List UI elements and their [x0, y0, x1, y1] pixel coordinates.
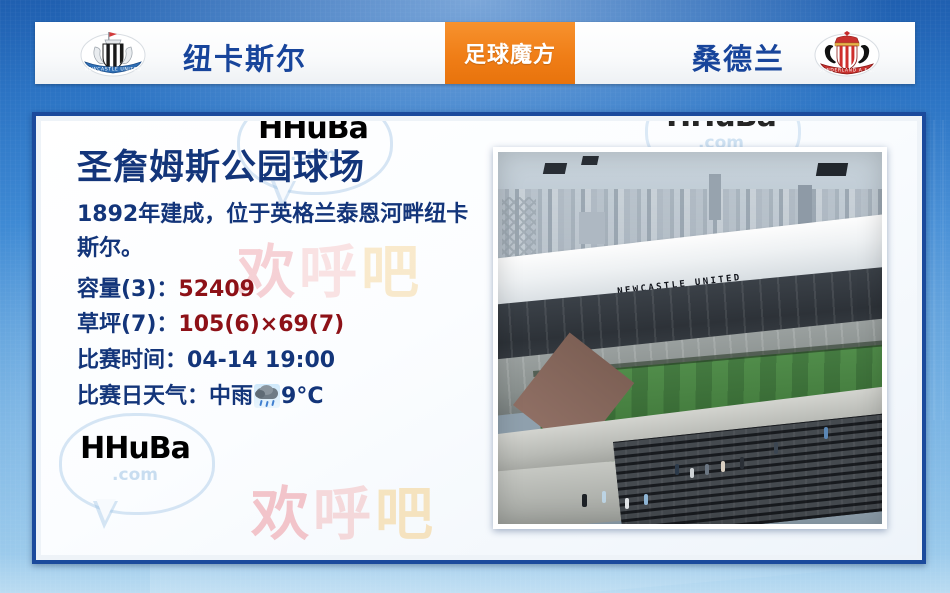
capacity-value: 52409 — [178, 277, 255, 302]
svg-text:SUNDERLAND A.F.C.: SUNDERLAND A.F.C. — [819, 67, 875, 73]
watermark-bubble-domain-2: .com — [71, 465, 199, 485]
pitch-label: 草坪(7)： — [77, 312, 178, 337]
watermark-bubble-bottom: HHuBa .com — [59, 413, 209, 531]
watermark-bubble-text-3: HHuBa — [657, 121, 785, 134]
stadium-info-panel: HHuBa .com HHuBa .com 欢呼吧 欢呼吧 HHuBa .com — [32, 112, 926, 564]
watermark-bubble-text-2: HHuBa — [71, 431, 199, 466]
stadium-title: 圣詹姆斯公园球场 — [77, 149, 477, 188]
newcastle-united-crest-icon: NEWCASTLE UNITED — [77, 31, 149, 77]
svg-text:NEWCASTLE UNITED: NEWCASTLE UNITED — [85, 67, 142, 73]
pitch-value: 105(6)×69(7) — [178, 312, 344, 337]
stadium-photo-frame: NEWCASTLE UNITED — [493, 147, 887, 529]
screenshot-root: NEWCASTLE UNITED 纽卡斯尔 足球魔方 桑德兰 SUNDERLAN… — [0, 0, 950, 593]
stadium-info-block: 圣詹姆斯公园球场 1892年建成，位于英格兰泰恩河畔纽卡斯尔。 容量(3)：52… — [77, 149, 477, 414]
site-logo[interactable]: 足球魔方 — [445, 22, 575, 84]
kickoff-value: 04-14 19:00 — [187, 348, 335, 373]
weather-label: 比赛日天气： — [77, 384, 209, 409]
weather-temperature: 9°C — [281, 384, 323, 409]
sunderland-crest-icon: SUNDERLAND A.F.C. — [811, 31, 883, 77]
home-team-name: 纽卡斯尔 — [183, 36, 307, 78]
info-row-weather: 比赛日天气：中雨 9°C — [77, 379, 477, 415]
watermark-brand-bottom: 欢呼吧 — [251, 467, 437, 551]
rain-cloud-icon — [254, 384, 280, 408]
capacity-label: 容量(3)： — [77, 277, 178, 302]
watermark-bubble-text: HHuBa — [249, 121, 377, 146]
info-row-capacity: 容量(3)：52409 — [77, 272, 477, 308]
stadium-description: 1892年建成，位于英格兰泰恩河畔纽卡斯尔。 — [77, 198, 477, 266]
away-team-name: 桑德兰 — [692, 36, 785, 78]
site-logo-text: 足球魔方 — [464, 37, 556, 69]
panel-inner: HHuBa .com HHuBa .com 欢呼吧 欢呼吧 HHuBa .com — [41, 121, 917, 555]
info-row-kickoff: 比赛时间：04-14 19:00 — [77, 343, 477, 379]
stadium-photo: NEWCASTLE UNITED — [498, 152, 882, 524]
kickoff-label: 比赛时间： — [77, 348, 187, 373]
weather-value: 中雨 — [209, 384, 253, 409]
match-header-bar: NEWCASTLE UNITED 纽卡斯尔 足球魔方 桑德兰 SUNDERLAN… — [35, 22, 915, 84]
info-row-pitch: 草坪(7)：105(6)×69(7) — [77, 307, 477, 343]
